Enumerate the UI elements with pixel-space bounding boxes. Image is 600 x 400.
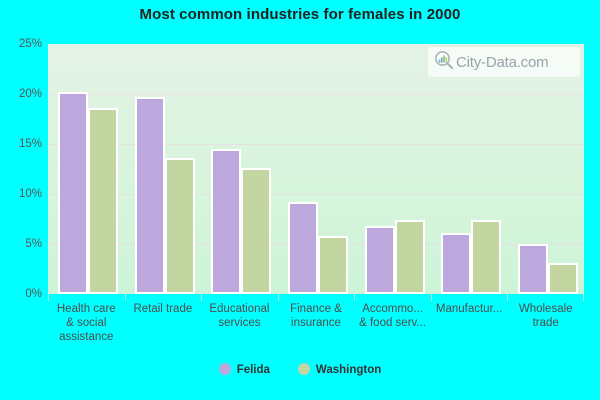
bar-group — [354, 44, 431, 294]
legend-item[interactable]: Washington — [298, 363, 381, 376]
x-axis-label: Finance &insurance — [278, 302, 355, 330]
x-axis-label-line: Accommo... — [354, 302, 431, 316]
x-axis-tick — [125, 294, 126, 301]
x-axis-label-line: Health care — [48, 302, 125, 316]
bar-group — [48, 44, 125, 294]
x-axis-label-line: trade — [507, 316, 584, 330]
x-axis-label-line: Educational — [201, 302, 278, 316]
chart-container: Most common industries for females in 20… — [0, 0, 600, 400]
x-axis-label-line: services — [201, 316, 278, 330]
x-axis-label: Manufactur... — [431, 302, 508, 316]
bar-group — [431, 44, 508, 294]
chart-legend: FelidaWashington — [0, 363, 600, 376]
x-axis-label-line: & food serv... — [354, 316, 431, 330]
x-axis-tick — [583, 294, 584, 301]
watermark-label: City-Data.com — [456, 54, 548, 71]
x-axis-label-line: Retail trade — [125, 302, 202, 316]
x-axis: Health care& socialassistanceRetail trad… — [48, 294, 584, 356]
y-axis-tick-label: 20% — [2, 88, 42, 100]
x-axis-label-line: Manufactur... — [431, 302, 508, 316]
bar[interactable] — [211, 149, 241, 294]
x-axis-label: Health care& socialassistance — [48, 302, 125, 344]
x-axis-tick — [507, 294, 508, 301]
x-axis-tick — [48, 294, 49, 301]
chart-title: Most common industries for females in 20… — [0, 6, 600, 23]
bar[interactable] — [395, 220, 425, 294]
legend-item[interactable]: Felida — [219, 363, 270, 376]
bar[interactable] — [518, 244, 548, 294]
x-axis-label: Retail trade — [125, 302, 202, 316]
x-axis-label-line: Wholesale — [507, 302, 584, 316]
x-axis-label: Wholesaletrade — [507, 302, 584, 330]
magnifier-bar-chart-icon — [434, 50, 454, 75]
bar-group — [507, 44, 584, 294]
x-axis-label: Educationalservices — [201, 302, 278, 330]
x-axis-tick — [354, 294, 355, 301]
bar[interactable] — [88, 108, 118, 294]
y-axis-tick-label: 0% — [2, 288, 42, 300]
y-axis-tick-label: 5% — [2, 238, 42, 250]
bar-group — [201, 44, 278, 294]
x-axis-label-line: insurance — [278, 316, 355, 330]
bar[interactable] — [441, 233, 471, 294]
legend-label: Felida — [237, 364, 270, 376]
bars-layer — [48, 44, 584, 294]
bar[interactable] — [318, 236, 348, 294]
y-axis-tick-label: 15% — [2, 138, 42, 150]
bar[interactable] — [471, 220, 501, 294]
watermark: City-Data.com — [428, 47, 580, 77]
bar-group — [125, 44, 202, 294]
legend-swatch-icon — [219, 363, 231, 375]
x-axis-tick — [431, 294, 432, 301]
bar[interactable] — [548, 263, 578, 294]
bar[interactable] — [135, 97, 165, 294]
x-axis-label-line: & social — [48, 316, 125, 330]
x-axis-tick — [201, 294, 202, 301]
legend-swatch-icon — [298, 363, 310, 375]
x-axis-tick — [278, 294, 279, 301]
y-axis-tick-label: 25% — [2, 38, 42, 50]
bar[interactable] — [165, 158, 195, 294]
bar[interactable] — [288, 202, 318, 294]
x-axis-label-line: assistance — [48, 330, 125, 344]
x-axis-label: Accommo...& food serv... — [354, 302, 431, 330]
bar[interactable] — [241, 168, 271, 294]
bar[interactable] — [58, 92, 88, 294]
bar[interactable] — [365, 226, 395, 294]
y-axis-tick-label: 10% — [2, 188, 42, 200]
x-axis-label-line: Finance & — [278, 302, 355, 316]
legend-label: Washington — [316, 364, 381, 376]
bar-group — [278, 44, 355, 294]
